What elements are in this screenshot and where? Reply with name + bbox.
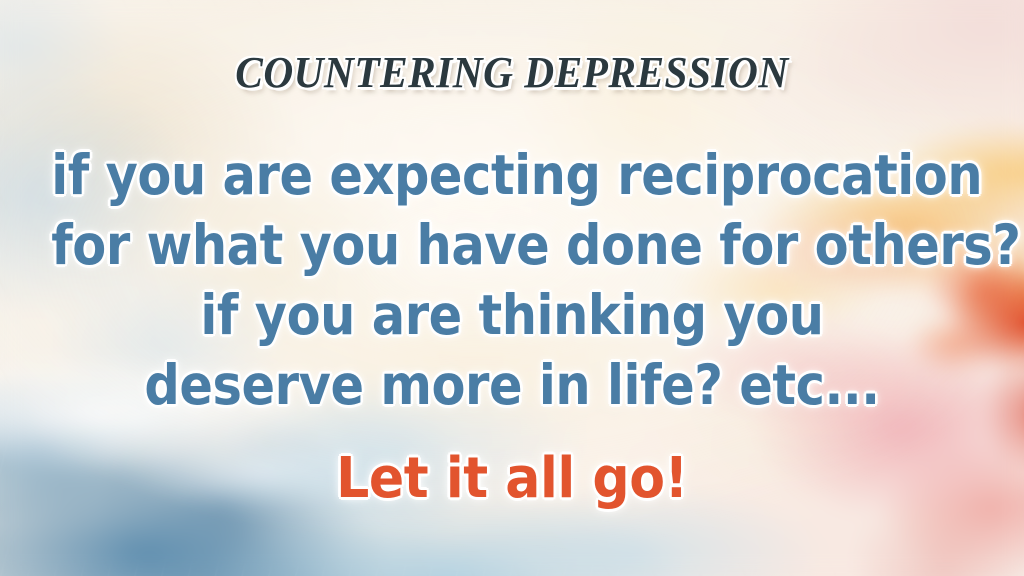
body-line-2: for what you have done for others? — [51, 210, 973, 280]
body-line-1: if you are expecting reciprocation — [51, 140, 973, 210]
poster-canvas: COUNTERING DEPRESSION if you are expecti… — [0, 0, 1024, 576]
body-line-3: if you are thinking you — [51, 280, 973, 350]
body-line-4: deserve more in life? etc... — [51, 350, 973, 420]
poster-title: COUNTERING DEPRESSION — [31, 47, 994, 98]
poster-call-to-action: Let it all go! — [36, 446, 988, 511]
poster-content: COUNTERING DEPRESSION if you are expecti… — [0, 0, 1024, 576]
poster-body-copy: if you are expecting reciprocation for w… — [0, 140, 1024, 420]
